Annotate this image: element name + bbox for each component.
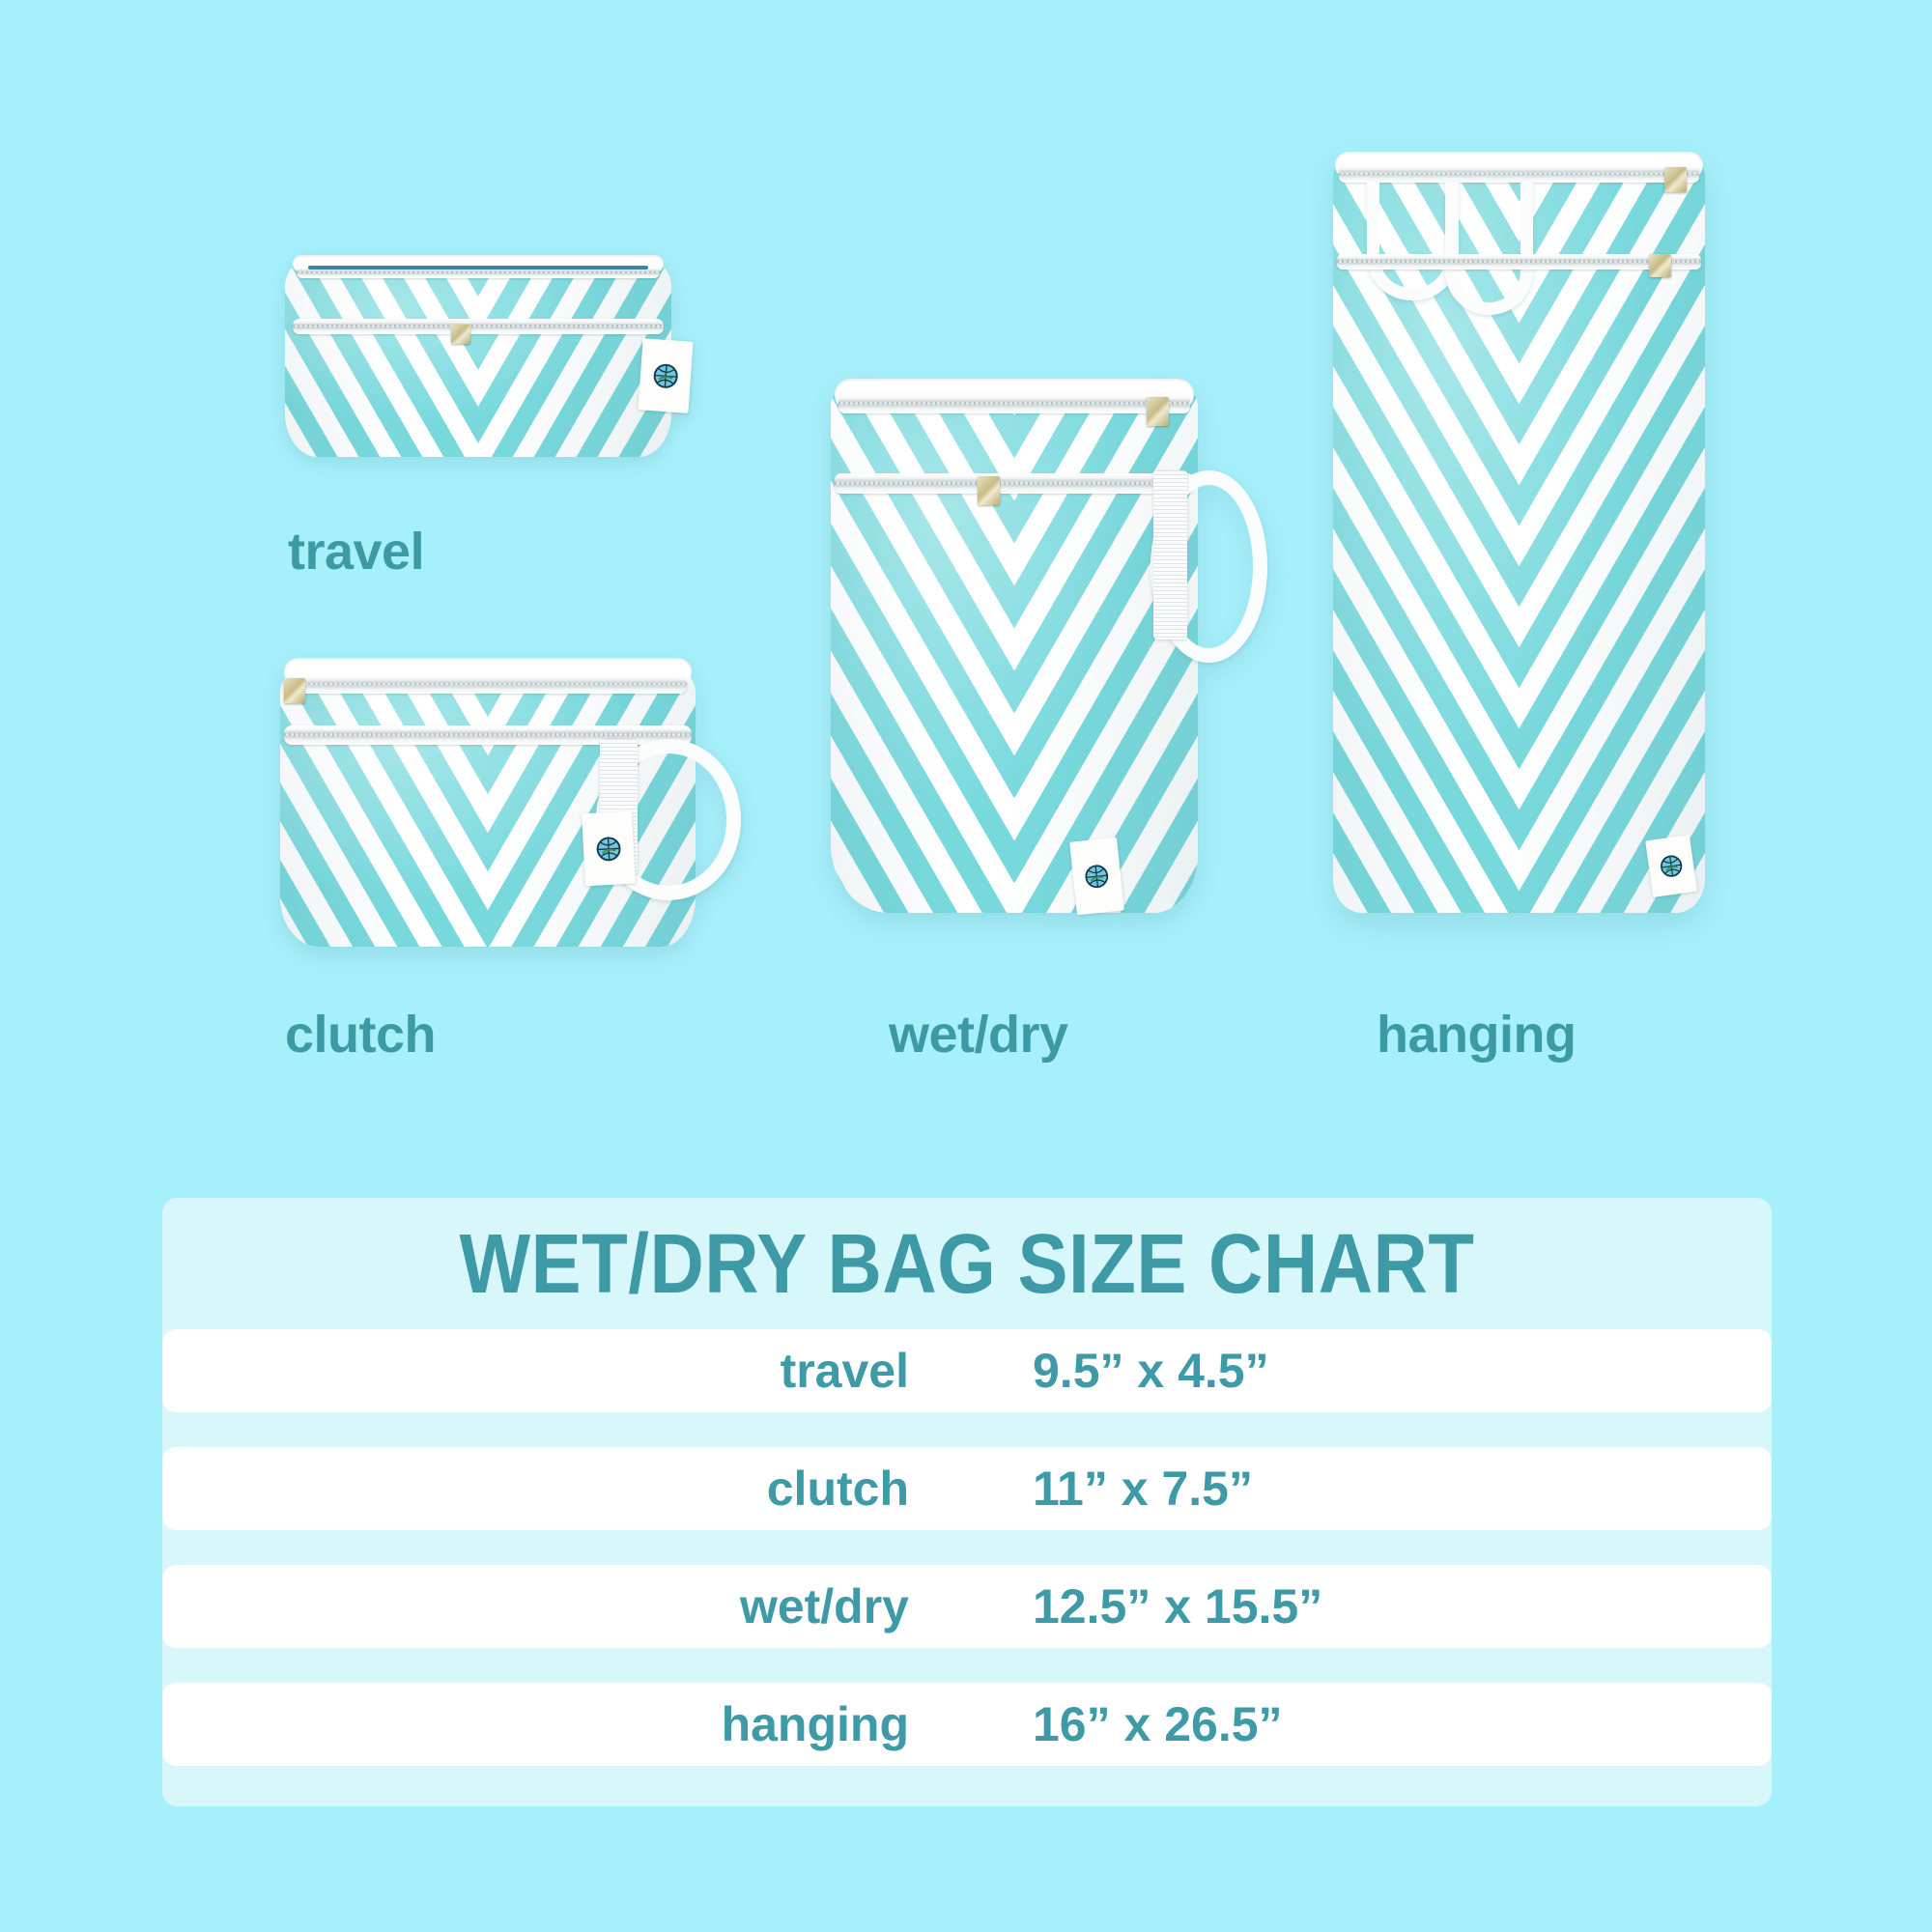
planet-wise-logo-icon xyxy=(588,821,628,877)
pocket-zipper xyxy=(1337,254,1701,270)
row-dimensions: 12.5” x 15.5” xyxy=(969,1578,1772,1634)
row-style-name: clutch xyxy=(162,1461,969,1517)
row-spacer xyxy=(162,1530,1772,1565)
zipper-teeth-shadow xyxy=(308,266,648,270)
table-row: clutch11” x 7.5” xyxy=(162,1447,1772,1530)
product-photo-hanging xyxy=(1333,159,1705,913)
row-dimensions: 9.5” x 4.5” xyxy=(969,1343,1772,1399)
travel-bag-body xyxy=(285,259,671,457)
table-row: wet/dry12.5” x 15.5” xyxy=(162,1565,1772,1648)
top-zipper xyxy=(289,675,688,694)
pocket-zipper-pull xyxy=(1649,254,1671,276)
planet-wise-logo-icon xyxy=(1652,842,1690,889)
chevron-pattern xyxy=(831,386,1198,913)
row-spacer xyxy=(162,1412,1772,1447)
wetdry-bag-body xyxy=(831,386,1198,913)
wrist-strap-webbing xyxy=(1153,470,1186,639)
brand-tag xyxy=(1645,835,1697,896)
caption-wetdry: wet/dry xyxy=(889,1005,1068,1065)
top-zipper xyxy=(838,394,1191,413)
row-spacer xyxy=(162,1648,1772,1683)
brand-tag xyxy=(638,338,693,412)
top-zipper xyxy=(1339,165,1699,183)
product-photo-wetdry xyxy=(831,386,1198,913)
table-title: WET/DRY BAG SIZE CHART xyxy=(459,1214,1474,1313)
planet-wise-logo-icon xyxy=(645,348,686,403)
caption-clutch: clutch xyxy=(285,1005,436,1065)
pocket-zipper-pull xyxy=(978,476,1000,505)
caption-hanging: hanging xyxy=(1377,1005,1576,1065)
table-body: travel9.5” x 4.5”clutch11” x 7.5”wet/dry… xyxy=(162,1329,1772,1801)
table-header: WET/DRY BAG SIZE CHART xyxy=(162,1198,1772,1329)
row-dimensions: 16” x 26.5” xyxy=(969,1696,1772,1752)
row-style-name: travel xyxy=(162,1343,969,1399)
top-zipper-pull xyxy=(284,678,305,703)
pocket-zipper xyxy=(293,319,664,334)
chevron-pattern xyxy=(285,259,671,457)
pocket-zipper xyxy=(835,473,1194,494)
product-photo-travel xyxy=(285,259,671,457)
size-chart-page: travel clutch wet/dry hanging WET/DRY BA… xyxy=(0,0,1932,1932)
row-spacer xyxy=(162,1766,1772,1801)
caption-travel: travel xyxy=(288,522,424,582)
table-row: hanging16” x 26.5” xyxy=(162,1683,1772,1766)
product-photo-clutch xyxy=(280,667,696,947)
row-style-name: wet/dry xyxy=(162,1578,969,1634)
row-dimensions: 11” x 7.5” xyxy=(969,1461,1772,1517)
size-chart-table: WET/DRY BAG SIZE CHART travel9.5” x 4.5”… xyxy=(162,1198,1772,1806)
product-showcase: travel clutch wet/dry hanging xyxy=(0,0,1932,1169)
top-zipper-pull xyxy=(1664,167,1687,193)
top-zipper-pull xyxy=(1147,397,1169,426)
brand-tag xyxy=(1069,837,1124,915)
row-style-name: hanging xyxy=(162,1696,969,1752)
table-row: travel9.5” x 4.5” xyxy=(162,1329,1772,1412)
brand-tag xyxy=(582,810,635,886)
hanger-loop-right xyxy=(1445,182,1533,315)
zipper-pull xyxy=(451,325,470,345)
planet-wise-logo-icon xyxy=(1076,847,1117,905)
